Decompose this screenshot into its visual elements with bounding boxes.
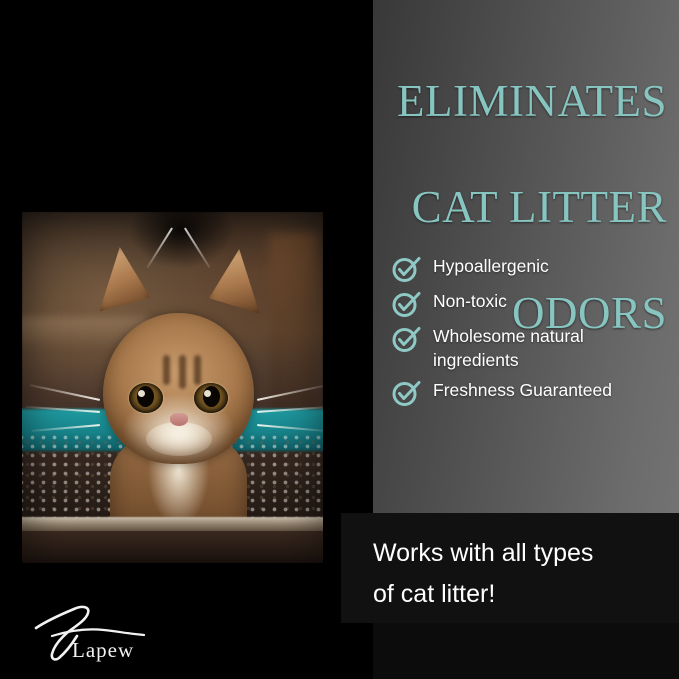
product-ad-banner: ELIMINATES CAT LITTER ODORS [0,0,679,679]
kitten-nose [170,413,188,426]
photo-scene [22,212,323,563]
litter-box-front-panel [22,531,323,563]
brand-logo: Lapew [28,600,178,666]
feature-label: Hypoallergenic [433,252,549,278]
kitten-ear-left [93,245,151,312]
feature-label: Freshness Guaranteed [433,376,612,402]
kitten-forehead-stripe [179,355,186,389]
kitten-eye-right [194,383,228,413]
tagline-box: Works with all types of cat litter! [341,513,679,623]
check-circle-icon [391,377,421,407]
kitten-forehead-stripe [194,355,201,385]
feature-list: Hypoallergenic Non-toxic Wholesome natur… [391,252,671,411]
list-item: Freshness Guaranteed [391,376,671,407]
feature-label: Non-toxic [433,287,507,313]
list-item: Hypoallergenic [391,252,671,283]
list-item: Wholesome natural ingredients [391,322,671,372]
kitten-eye-glint [204,390,211,397]
check-circle-icon [391,323,421,353]
check-circle-icon [391,288,421,318]
headline-line-2: CAT LITTER [295,181,667,234]
tagline-text: Works with all types of cat litter! [373,533,663,615]
kitten-muzzle [146,422,212,456]
product-photo [22,212,323,563]
kitten-eye-left [129,383,163,413]
check-circle-icon [391,253,421,283]
feature-label: Wholesome natural ingredients [433,322,671,372]
kitten-forehead-stripe [163,355,170,385]
list-item: Non-toxic [391,287,671,318]
kitten-head [103,313,253,465]
headline-line-1: ELIMINATES [295,75,667,128]
kitten [100,247,257,500]
brand-name: Lapew [72,638,134,663]
